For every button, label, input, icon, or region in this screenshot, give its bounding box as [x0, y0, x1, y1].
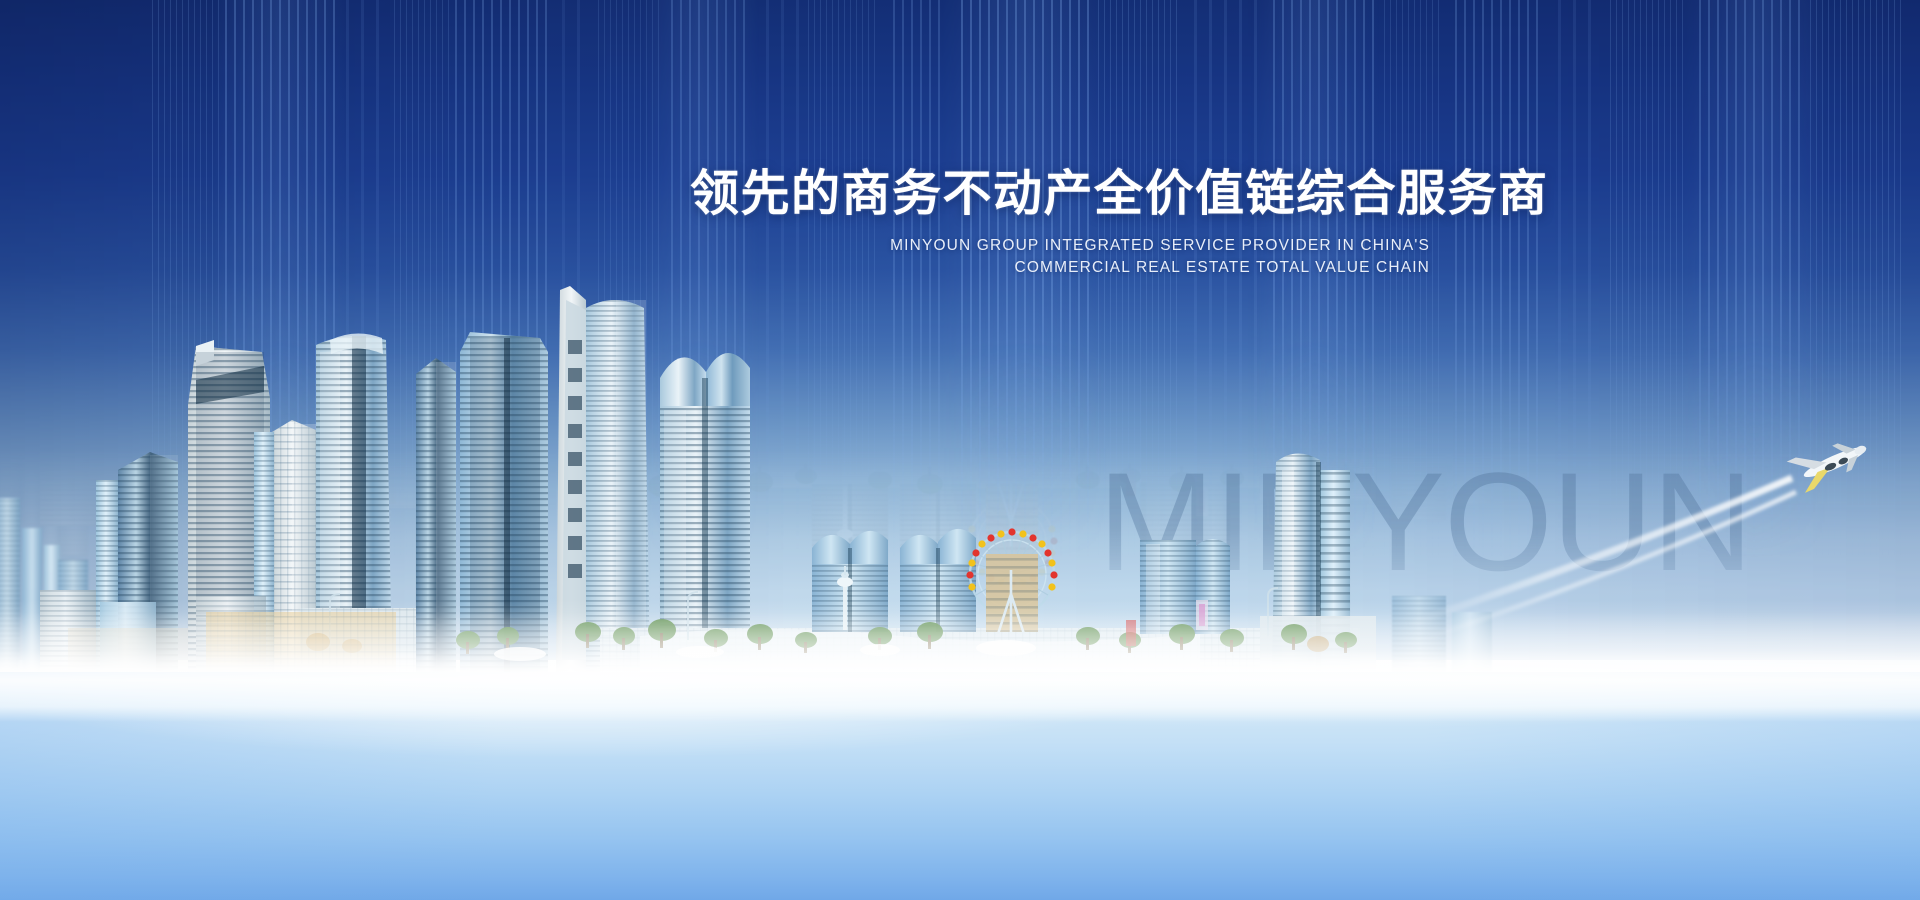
airplane-group [0, 0, 1920, 672]
subtitle-line-2: COMMERCIAL REAL ESTATE TOTAL VALUE CHAIN [690, 257, 1430, 279]
subtitle-block: MINYOUN GROUP INTEGRATED SERVICE PROVIDE… [690, 235, 1430, 280]
airplane-icon [1787, 430, 1873, 495]
water-sheen [0, 660, 1920, 900]
hero-banner: MINYOUN 领先的商务不动产全价值链综合服务 [0, 0, 1920, 900]
page-title: 领先的商务不动产全价值链综合服务商 [690, 168, 1430, 221]
contrail-icon [1408, 478, 1796, 640]
subtitle-line-1: MINYOUN GROUP INTEGRATED SERVICE PROVIDE… [690, 235, 1430, 257]
headline-block: 领先的商务不动产全价值链综合服务商 MINYOUN GROUP INTEGRAT… [690, 168, 1430, 280]
